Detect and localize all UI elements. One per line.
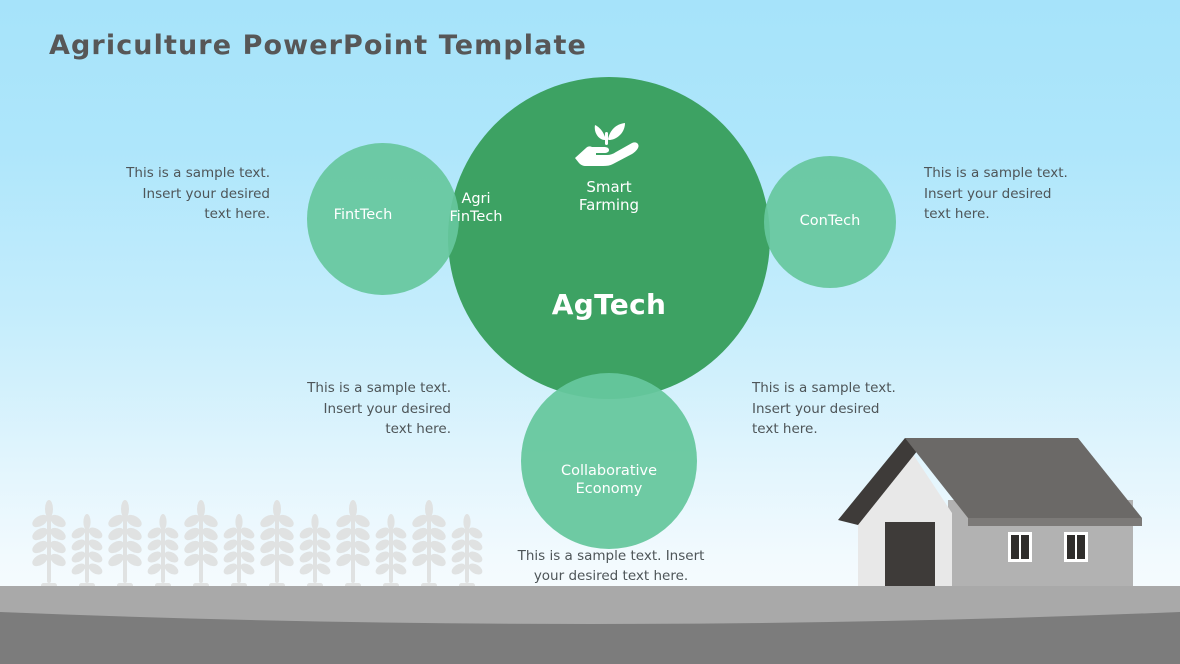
- callout-text-top-right: This is a sample text. Insert your desir…: [924, 163, 1138, 225]
- venn-circle-finttech[interactable]: [307, 143, 459, 295]
- callout-text-top-left: This is a sample text. Insert your desir…: [58, 163, 270, 225]
- slide-canvas: Agriculture PowerPoint Template: [0, 0, 1180, 664]
- venn-circle-contech[interactable]: [764, 156, 896, 288]
- venn-circle-collaborative-economy[interactable]: [521, 373, 697, 549]
- plant-in-hand-icon: [570, 114, 644, 166]
- callout-text-bottom-center: This is a sample text. Insert your desir…: [495, 546, 727, 587]
- callout-text-bottom-left: This is a sample text. Insert your desir…: [238, 378, 451, 440]
- callout-text-bottom-right: This is a sample text. Insert your desir…: [752, 378, 966, 440]
